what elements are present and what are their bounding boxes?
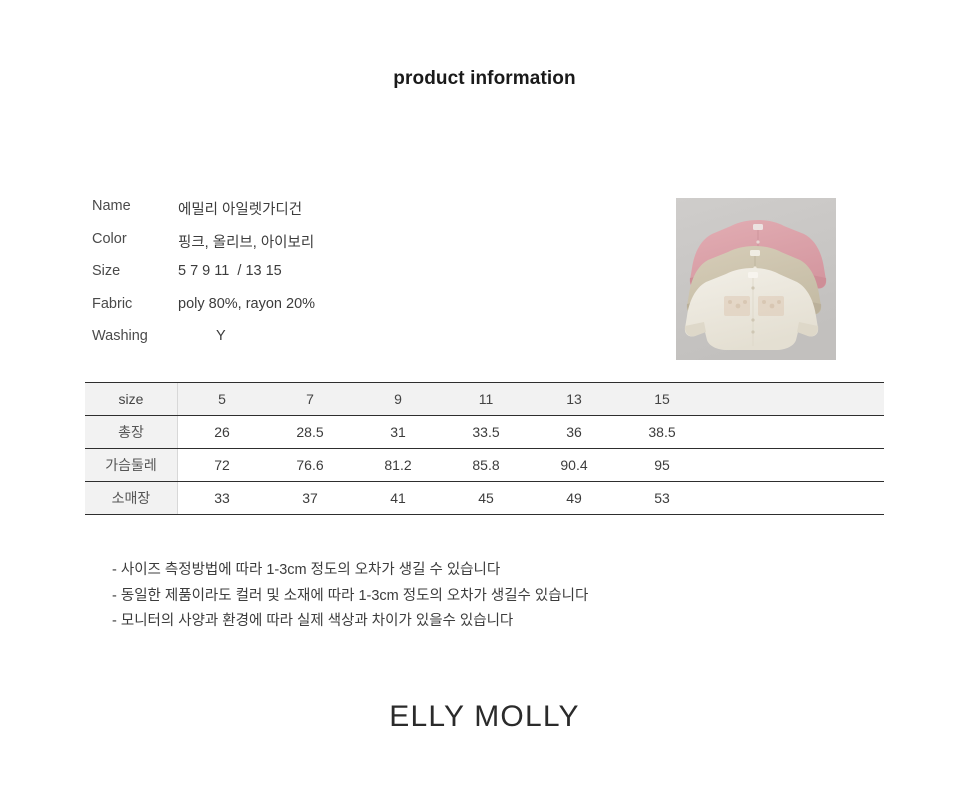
cell-chest-11: 85.8 — [442, 449, 530, 482]
table-header-11: 11 — [442, 383, 530, 416]
cell-chest-9: 81.2 — [354, 449, 442, 482]
spec-label-color: Color — [92, 231, 178, 247]
spec-value-fabric: poly 80%, rayon 20% — [178, 296, 315, 312]
cell-length-13: 36 — [530, 416, 618, 449]
spec-value-name: 에밀리 아일렛가디건 — [178, 198, 302, 219]
spec-value-color: 핑크, 올리브, 아이보리 — [178, 231, 314, 252]
table-header-7: 7 — [266, 383, 354, 416]
cell-sleeve-15: 53 — [618, 482, 706, 515]
cell-chest-7: 76.6 — [266, 449, 354, 482]
cell-sleeve-7: 37 — [266, 482, 354, 515]
cell-length-11: 33.5 — [442, 416, 530, 449]
note-line-material: - 동일한 제품이라도 컬러 및 소재에 따라 1-3cm 정도의 오차가 생길… — [112, 584, 588, 610]
cell-chest-15: 95 — [618, 449, 706, 482]
brand-name: ELLY MOLLY — [0, 700, 969, 734]
table-header-9: 9 — [354, 383, 442, 416]
size-table-container: size 5 7 9 11 13 15 총장 26 28.5 31 33.5 3… — [85, 382, 884, 515]
table-row: 소매장 33 37 41 45 49 53 — [85, 482, 884, 515]
note-line-monitor: - 모니터의 사양과 환경에 따라 실제 색상과 차이가 있을수 있습니다 — [112, 609, 588, 635]
spec-value-size: 5 7 9 11 / 13 15 — [178, 263, 282, 279]
table-row-label-sleeve: 소매장 — [85, 482, 178, 515]
cell-length-15: 38.5 — [618, 416, 706, 449]
table-header-5: 5 — [178, 383, 267, 416]
cell-chest-13: 90.4 — [530, 449, 618, 482]
table-row: 총장 26 28.5 31 33.5 36 38.5 — [85, 416, 884, 449]
table-row-label-length: 총장 — [85, 416, 178, 449]
product-spec-list: Name 에밀리 아일렛가디건 Color 핑크, 올리브, 아이보리 Size… — [92, 198, 512, 361]
table-row-label-chest: 가슴둘레 — [85, 449, 178, 482]
cell-length-filler — [706, 416, 884, 449]
note-line-measurement: - 사이즈 측정방법에 따라 1-3cm 정도의 오차가 생길 수 있습니다 — [112, 558, 588, 584]
spec-row-name: Name 에밀리 아일렛가디건 — [92, 198, 512, 231]
table-header-13: 13 — [530, 383, 618, 416]
spec-row-color: Color 핑크, 올리브, 아이보리 — [92, 231, 512, 264]
spec-label-name: Name — [92, 198, 178, 214]
cell-length-7: 28.5 — [266, 416, 354, 449]
spec-row-washing: Washing Y — [92, 328, 512, 361]
product-photo — [676, 198, 836, 360]
disclaimer-notes: - 사이즈 측정방법에 따라 1-3cm 정도의 오차가 생길 수 있습니다 -… — [112, 558, 588, 635]
table-header-15: 15 — [618, 383, 706, 416]
cell-length-5: 26 — [178, 416, 267, 449]
table-header-row: size 5 7 9 11 13 15 — [85, 383, 884, 416]
spec-value-washing: Y — [178, 328, 226, 344]
spec-label-size: Size — [92, 263, 178, 279]
cell-sleeve-13: 49 — [530, 482, 618, 515]
cell-sleeve-11: 45 — [442, 482, 530, 515]
cell-sleeve-5: 33 — [178, 482, 267, 515]
table-row: 가슴둘레 72 76.6 81.2 85.8 90.4 95 — [85, 449, 884, 482]
cell-sleeve-filler — [706, 482, 884, 515]
table-header-size: size — [85, 383, 178, 416]
page-title: product information — [0, 68, 969, 90]
cell-sleeve-9: 41 — [354, 482, 442, 515]
table-header-filler — [706, 383, 884, 416]
spec-row-size: Size 5 7 9 11 / 13 15 — [92, 263, 512, 296]
spec-label-washing: Washing — [92, 328, 178, 344]
cell-chest-5: 72 — [178, 449, 267, 482]
cell-chest-filler — [706, 449, 884, 482]
product-photo-illustration — [676, 198, 836, 360]
cell-length-9: 31 — [354, 416, 442, 449]
spec-row-fabric: Fabric poly 80%, rayon 20% — [92, 296, 512, 329]
spec-label-fabric: Fabric — [92, 296, 178, 312]
size-table: size 5 7 9 11 13 15 총장 26 28.5 31 33.5 3… — [85, 383, 884, 515]
